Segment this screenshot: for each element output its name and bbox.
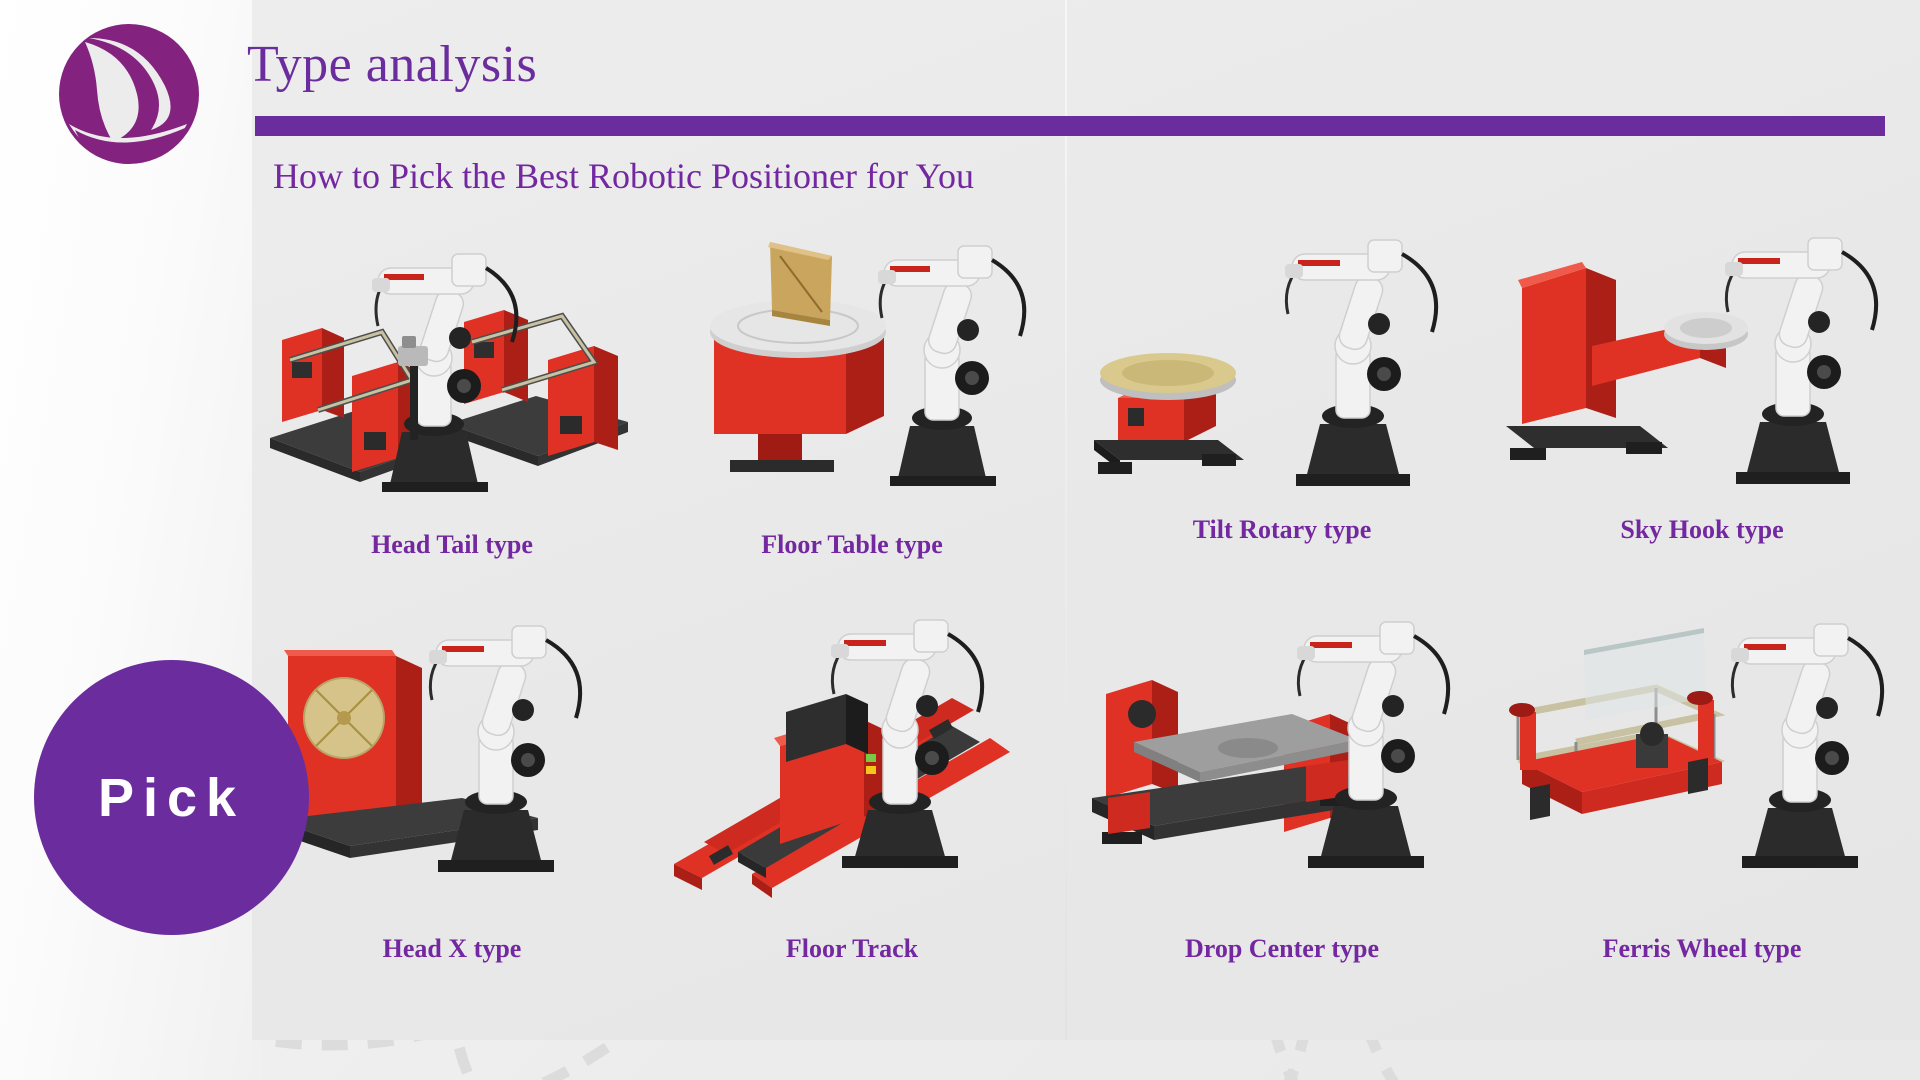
positioner-grid: Head Tail type bbox=[252, 210, 1920, 1010]
positioner-sky-hook-icon bbox=[1492, 210, 1912, 535]
positioner-card-drop-center[interactable]: Drop Center type bbox=[1072, 602, 1492, 1002]
positioner-card-floor-track[interactable]: Floor Track bbox=[652, 602, 1052, 1002]
title-underline-bar bbox=[255, 116, 1885, 136]
positioner-card-sky-hook[interactable]: Sky Hook type bbox=[1492, 210, 1912, 600]
positioner-card-label: Head X type bbox=[252, 934, 652, 964]
positioner-card-label: Head Tail type bbox=[252, 530, 652, 560]
positioner-floor-table-icon bbox=[652, 210, 1052, 535]
positioner-card-label: Floor Table type bbox=[652, 530, 1052, 560]
positioner-card-floor-table[interactable]: Floor Table type bbox=[652, 210, 1052, 600]
pick-badge[interactable]: Pick bbox=[34, 660, 309, 935]
positioner-tilt-rotary-icon bbox=[1072, 210, 1492, 535]
page-subtitle: How to Pick the Best Robotic Positioner … bbox=[273, 155, 974, 197]
pick-badge-label: Pick bbox=[98, 767, 245, 829]
positioner-card-label: Ferris Wheel type bbox=[1492, 934, 1912, 964]
positioner-card-tilt-rotary[interactable]: Tilt Rotary type bbox=[1072, 210, 1492, 600]
positioner-drop-center-icon bbox=[1072, 602, 1492, 927]
positioner-head-tail-icon bbox=[252, 210, 652, 535]
positioner-card-ferris-wheel[interactable]: Ferris Wheel type bbox=[1492, 602, 1912, 1002]
positioner-card-label: Sky Hook type bbox=[1492, 515, 1912, 545]
positioner-card-label: Floor Track bbox=[652, 934, 1052, 964]
positioner-card-label: Tilt Rotary type bbox=[1072, 515, 1492, 545]
slide-canvas: DESANEE.COM DESANEE.COM DESANEE.COM DESA… bbox=[0, 0, 1920, 1080]
desanee-sail-logo bbox=[55, 20, 203, 168]
positioner-card-head-x[interactable]: Head X type bbox=[252, 602, 652, 1002]
positioner-head-x-icon bbox=[252, 602, 652, 927]
positioner-ferris-wheel-icon bbox=[1492, 602, 1912, 927]
positioner-card-label: Drop Center type bbox=[1072, 934, 1492, 964]
positioner-card-head-tail[interactable]: Head Tail type bbox=[252, 210, 652, 600]
page-title: Type analysis bbox=[247, 35, 537, 94]
positioner-floor-track-icon bbox=[652, 602, 1052, 927]
